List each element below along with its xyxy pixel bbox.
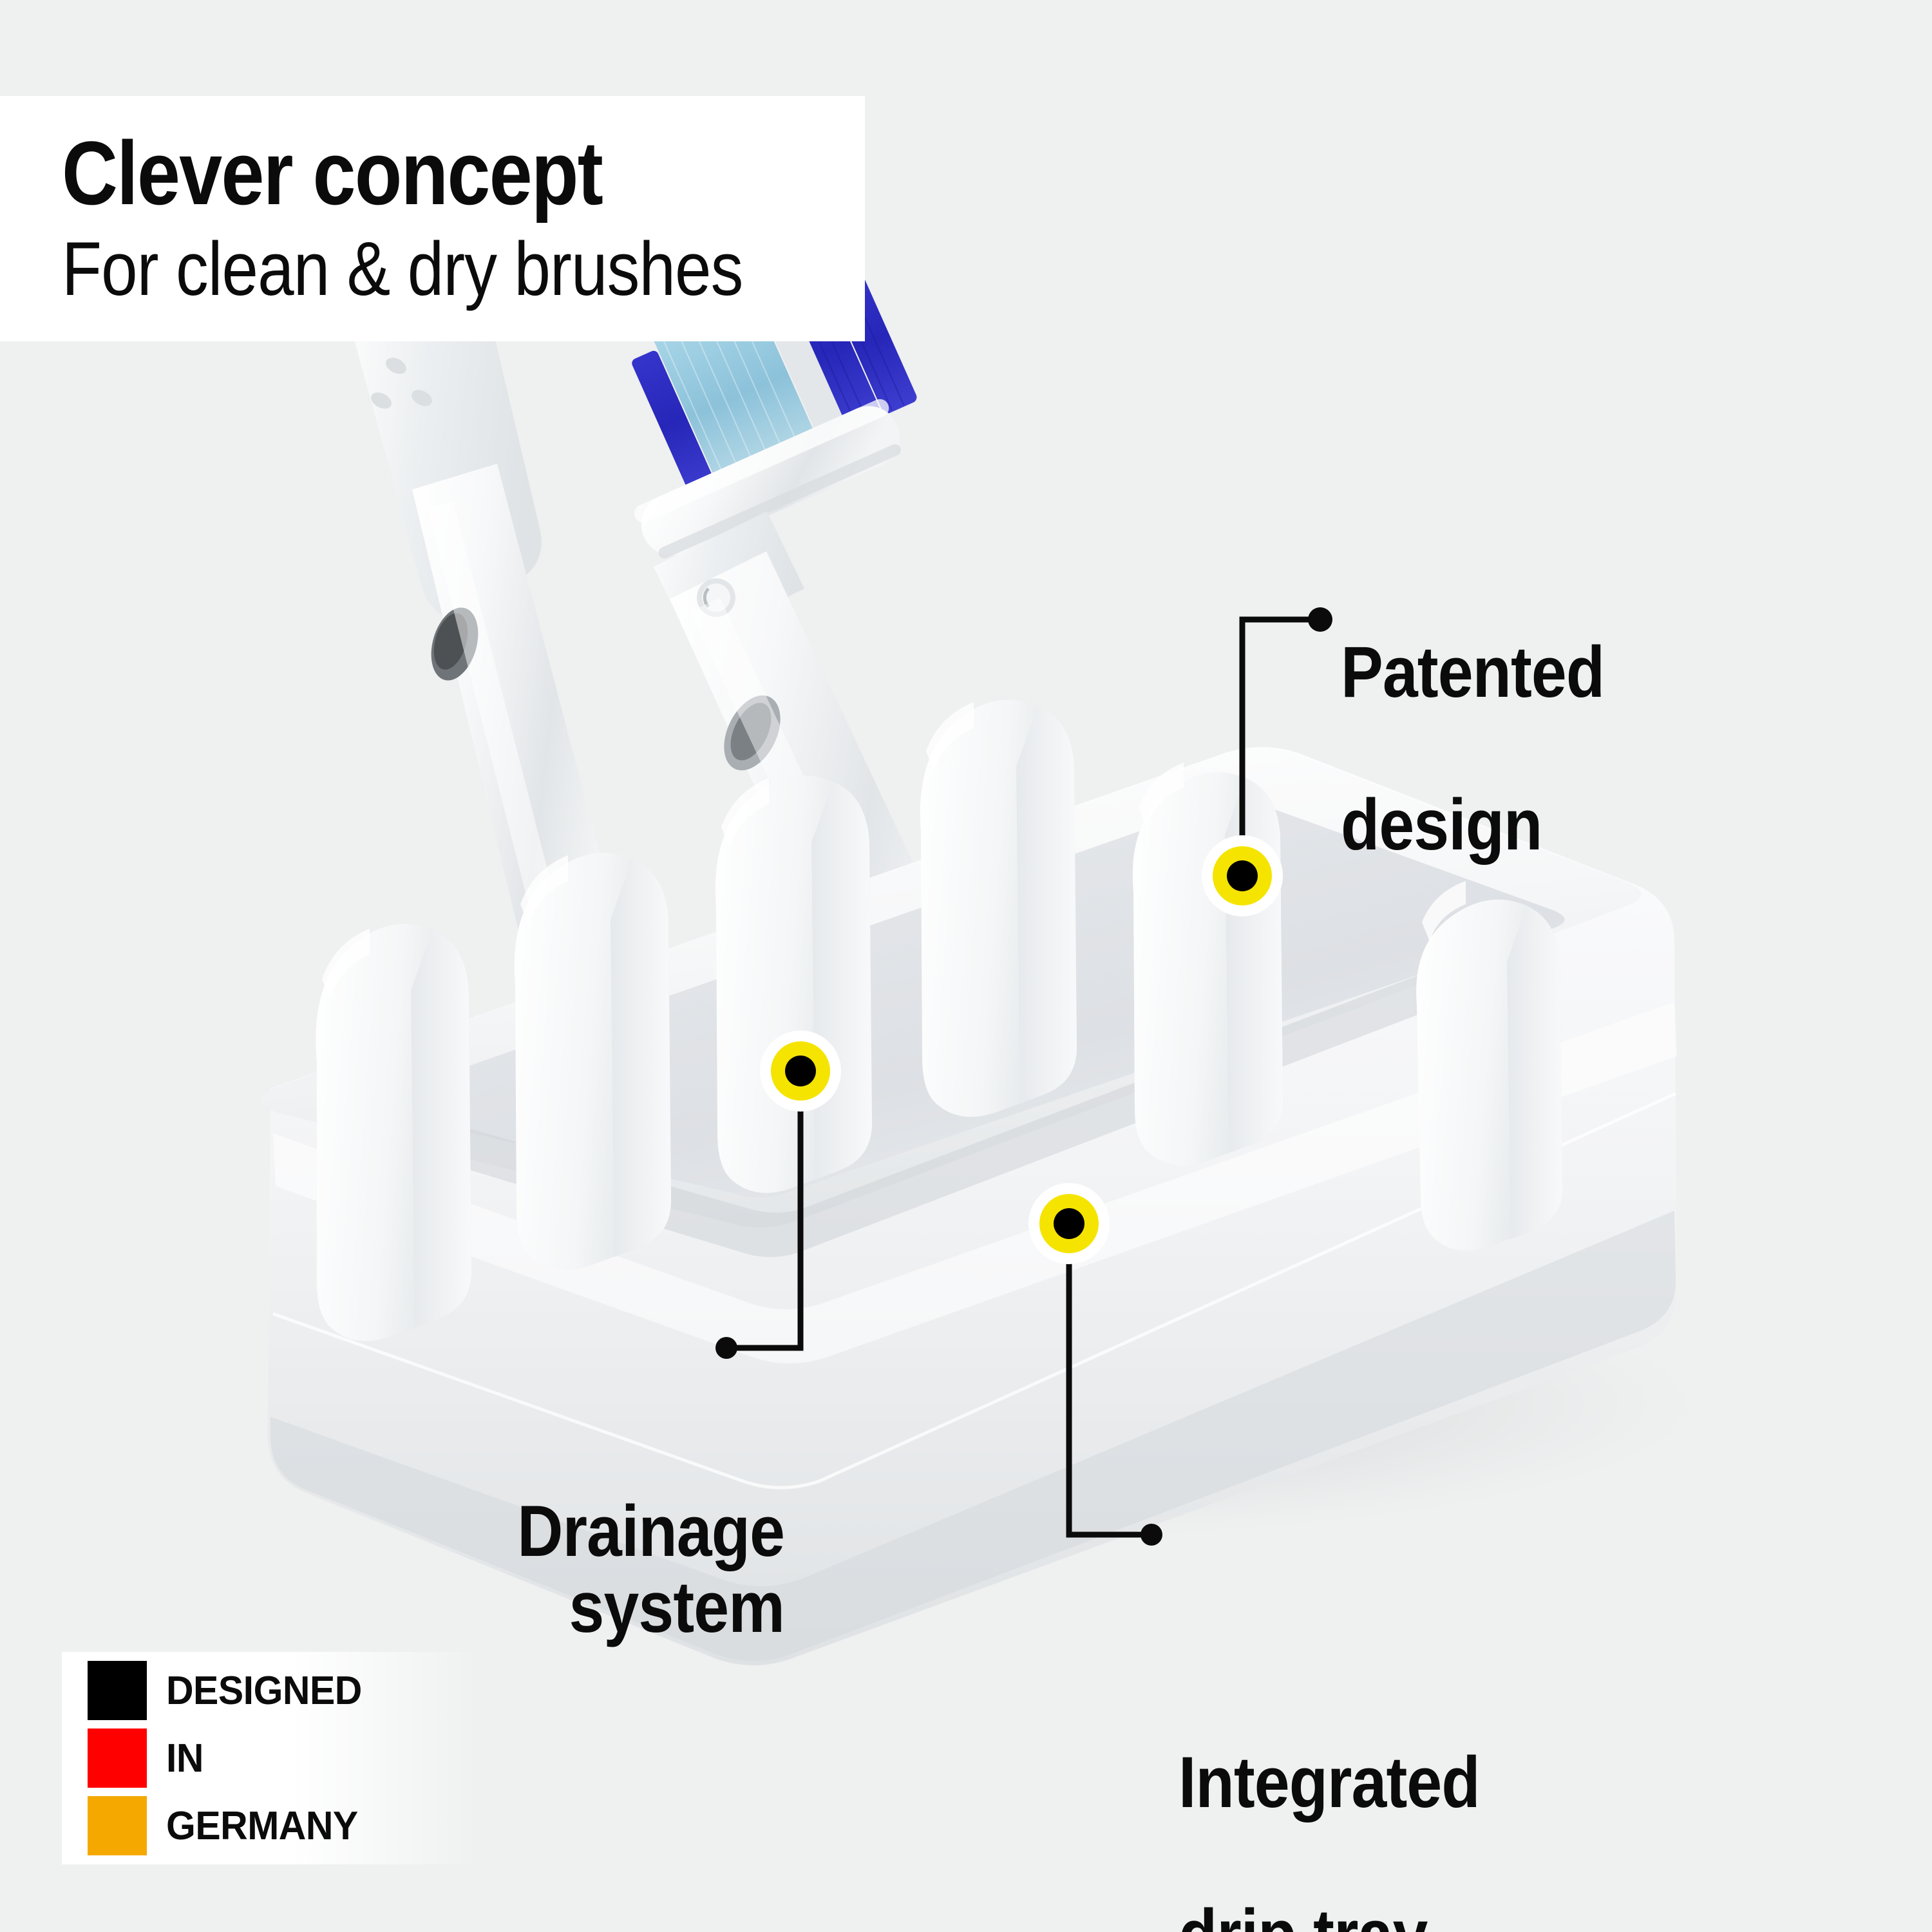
badge-row-in: IN — [88, 1728, 480, 1788]
callout-label-integrated-drip-tray: Integrated drip tray — [1179, 1668, 1520, 1932]
badge-label-designed: DESIGNED — [166, 1668, 362, 1714]
callout-patented-line1: Patented — [1341, 634, 1604, 711]
leader-dot-drainage — [715, 1337, 737, 1359]
badge-label-in: IN — [166, 1736, 204, 1781]
page-subtitle: For clean & dry brushes — [62, 230, 752, 310]
badge-row-designed: DESIGNED — [88, 1661, 480, 1720]
leader-dot-patented — [1308, 607, 1332, 632]
marker-patented — [1202, 835, 1283, 916]
page-title: Clever concept — [62, 128, 752, 218]
marker-driptray — [1028, 1183, 1110, 1264]
badge-label-germany: GERMANY — [166, 1803, 358, 1849]
title-card: Clever concept For clean & dry brushes — [0, 96, 865, 341]
callout-driptray-line1: Integrated — [1179, 1745, 1480, 1821]
marker-drainage — [760, 1030, 841, 1112]
leader-driptray — [1069, 1224, 1151, 1535]
flag-swatch-black — [88, 1661, 147, 1720]
callout-drainage-line1: Drainage system — [319, 1493, 784, 1646]
flag-swatch-red — [88, 1728, 147, 1788]
leader-dot-driptray — [1141, 1524, 1162, 1546]
callout-patented-line2: design — [1341, 787, 1604, 864]
leader-drainage — [726, 1071, 800, 1348]
designed-in-germany-badge: DESIGNED IN GERMANY — [62, 1652, 480, 1864]
flag-swatch-gold — [88, 1796, 147, 1855]
callout-label-patented-design: Patented design — [1341, 558, 1640, 940]
infographic-canvas: Clever concept For clean & dry brushes P… — [0, 0, 1932, 1932]
badge-row-germany: GERMANY — [88, 1796, 480, 1855]
callout-driptray-line2: drip tray — [1179, 1897, 1480, 1932]
